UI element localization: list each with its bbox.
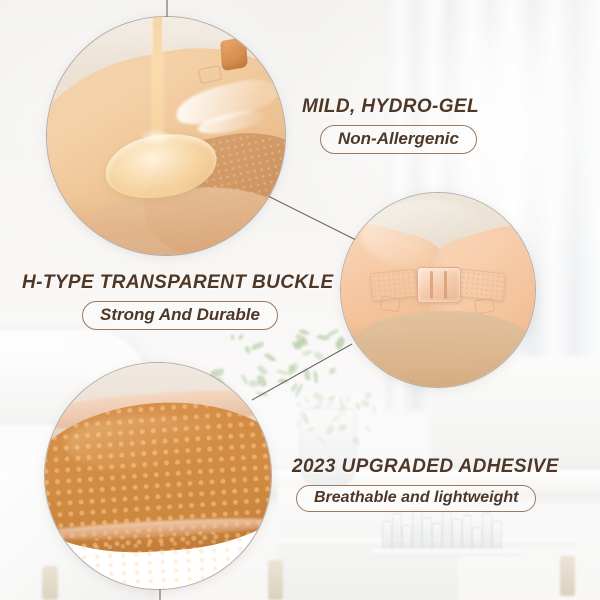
callout-buckle-badge: Strong And Durable <box>82 301 278 330</box>
silicone-pad-tab <box>220 37 248 72</box>
infographic-canvas: MILD, HYDRO-GEL Non-Allergenic H-TYPE TR… <box>0 0 600 600</box>
callout-gel-badge: Non-Allergenic <box>320 125 477 154</box>
gel-splash <box>139 129 173 145</box>
callout-hydro-gel: MILD, HYDRO-GEL Non-Allergenic <box>302 96 479 154</box>
callout-adhesive-headline: 2023 UPGRADED ADHESIVE <box>292 456 559 478</box>
callout-adhesive-badge: Breathable and lightweight <box>296 485 536 512</box>
buckle-photo-sheen <box>361 199 491 269</box>
callout-adhesive: 2023 UPGRADED ADHESIVE Breathable and li… <box>292 456 559 512</box>
h-buckle-photo <box>340 192 536 388</box>
callout-gel-headline: MILD, HYDRO-GEL <box>302 96 479 118</box>
buckle-strap-left <box>370 269 419 302</box>
transparent-h-clasp <box>417 267 461 303</box>
pad-emboss-mark <box>474 298 495 315</box>
adhesive-surface-photo <box>44 362 272 590</box>
callout-buckle-headline: H-TYPE TRANSPARENT BUCKLE <box>22 272 334 294</box>
callout-h-buckle: H-TYPE TRANSPARENT BUCKLE Strong And Dur… <box>22 272 334 330</box>
gel-pour-photo <box>46 16 286 256</box>
adhesive-gloss <box>65 415 235 473</box>
buckle-strap-right <box>458 269 507 302</box>
